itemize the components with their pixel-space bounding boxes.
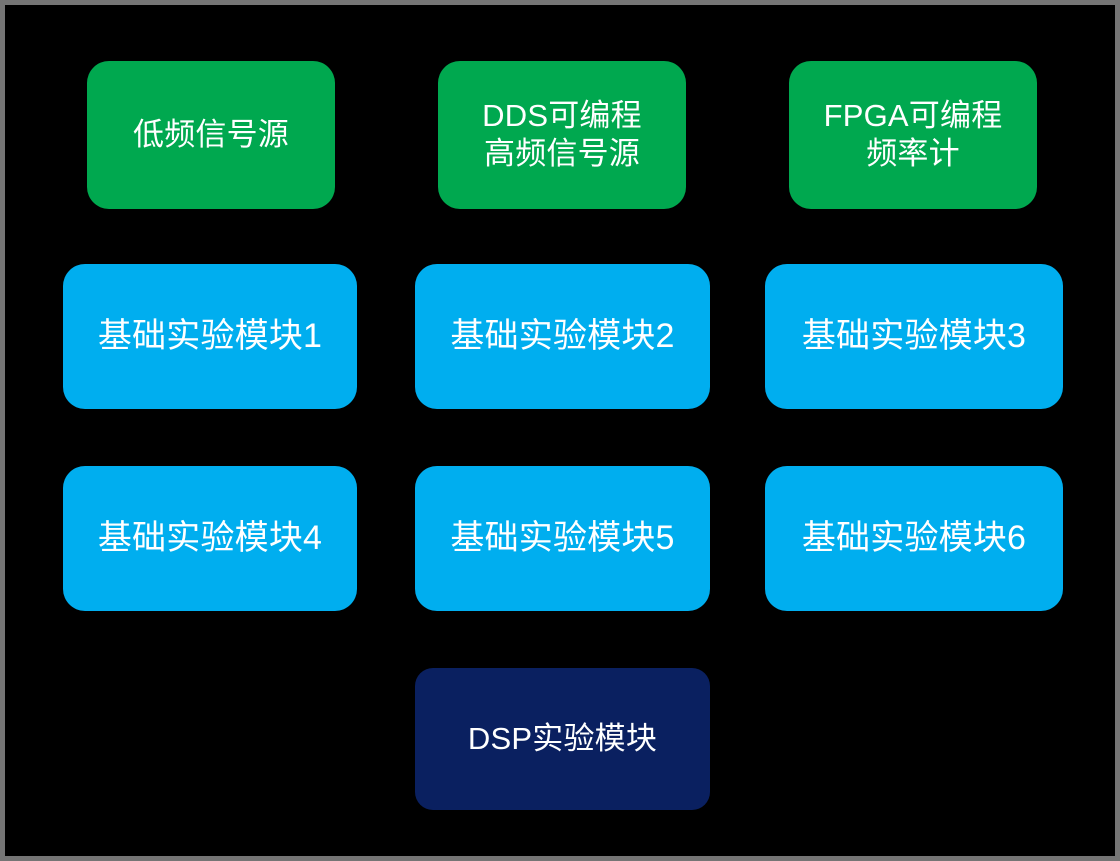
- node-low-frequency-signal-source[interactable]: 低频信号源: [87, 61, 335, 209]
- node-basic-experiment-module-1[interactable]: 基础实验模块1: [63, 264, 357, 409]
- node-dsp-experiment-module[interactable]: DSP实验模块: [415, 668, 710, 810]
- node-basic-experiment-module-4[interactable]: 基础实验模块4: [63, 466, 357, 611]
- node-basic-experiment-module-6[interactable]: 基础实验模块6: [765, 466, 1063, 611]
- node-basic-experiment-module-3[interactable]: 基础实验模块3: [765, 264, 1063, 409]
- node-dds-programmable-high-frequency-signal-source[interactable]: DDS可编程 高频信号源: [438, 61, 686, 209]
- node-basic-experiment-module-5[interactable]: 基础实验模块5: [415, 466, 710, 611]
- node-fpga-programmable-frequency-meter[interactable]: FPGA可编程 频率计: [789, 61, 1037, 209]
- diagram-canvas: 低频信号源 DDS可编程 高频信号源 FPGA可编程 频率计 基础实验模块1 基…: [0, 0, 1120, 861]
- node-basic-experiment-module-2[interactable]: 基础实验模块2: [415, 264, 710, 409]
